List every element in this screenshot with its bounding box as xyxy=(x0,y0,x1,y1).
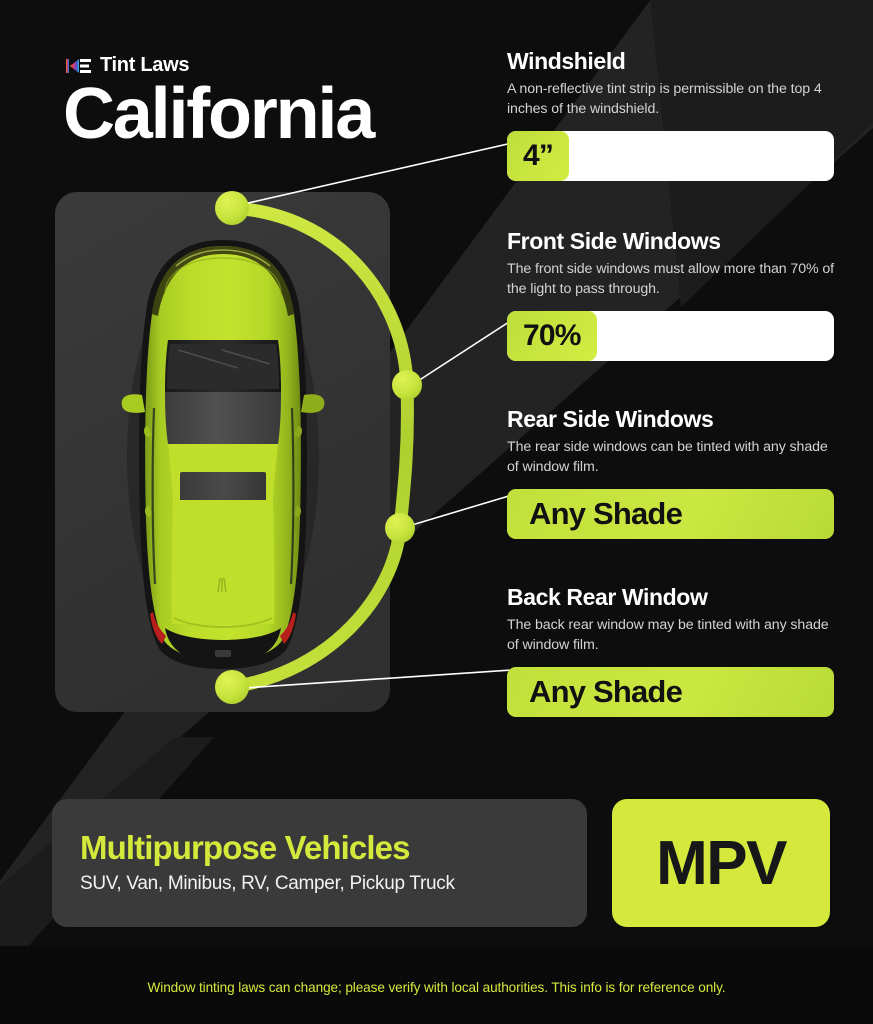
rule-description: The front side windows must allow more t… xyxy=(507,260,834,299)
rule-value-bar[interactable]: 4” xyxy=(507,131,834,181)
vehicle-diagram-panel xyxy=(55,192,390,712)
rule-description: The rear side windows can be tinted with… xyxy=(507,438,834,477)
mpv-badge: MPV xyxy=(612,799,830,927)
rule-value-chip: Any Shade xyxy=(507,667,834,717)
page-title: California xyxy=(63,72,373,157)
mpv-heading: Multipurpose Vehicles xyxy=(80,829,587,867)
rule-row-back-rear-window: Back Rear Window The back rear window ma… xyxy=(507,584,834,717)
mpv-subtitle: SUV, Van, Minibus, RV, Camper, Pickup Tr… xyxy=(80,873,587,895)
car-illustration-svg xyxy=(118,232,328,672)
rule-title: Rear Side Windows xyxy=(507,406,834,433)
footer-disclaimer: Window tinting laws can change; please v… xyxy=(0,980,873,995)
rule-title: Front Side Windows xyxy=(507,228,834,255)
infographic-poster: Tint Laws California xyxy=(0,0,873,1024)
rule-row-windshield: Windshield A non-reflective tint strip i… xyxy=(507,48,834,181)
multipurpose-vehicles-card: Multipurpose Vehicles SUV, Van, Minibus,… xyxy=(52,799,587,927)
rule-value-bar[interactable]: Any Shade xyxy=(507,489,834,539)
rule-row-rear-side-windows: Rear Side Windows The rear side windows … xyxy=(507,406,834,539)
rule-value-bar[interactable]: 70% xyxy=(507,311,834,361)
rule-title: Back Rear Window xyxy=(507,584,834,611)
rule-description: A non-reflective tint strip is permissib… xyxy=(507,80,834,119)
mpv-badge-label: MPV xyxy=(656,828,786,899)
rule-description: The back rear window may be tinted with … xyxy=(507,616,834,655)
rule-value-chip: Any Shade xyxy=(507,489,834,539)
rule-value-chip: 4” xyxy=(507,131,569,181)
car-top-view-icon xyxy=(118,232,328,672)
rule-value-chip: 70% xyxy=(507,311,597,361)
rule-title: Windshield xyxy=(507,48,834,75)
rule-value-bar[interactable]: Any Shade xyxy=(507,667,834,717)
rule-row-front-side-windows: Front Side Windows The front side window… xyxy=(507,228,834,361)
